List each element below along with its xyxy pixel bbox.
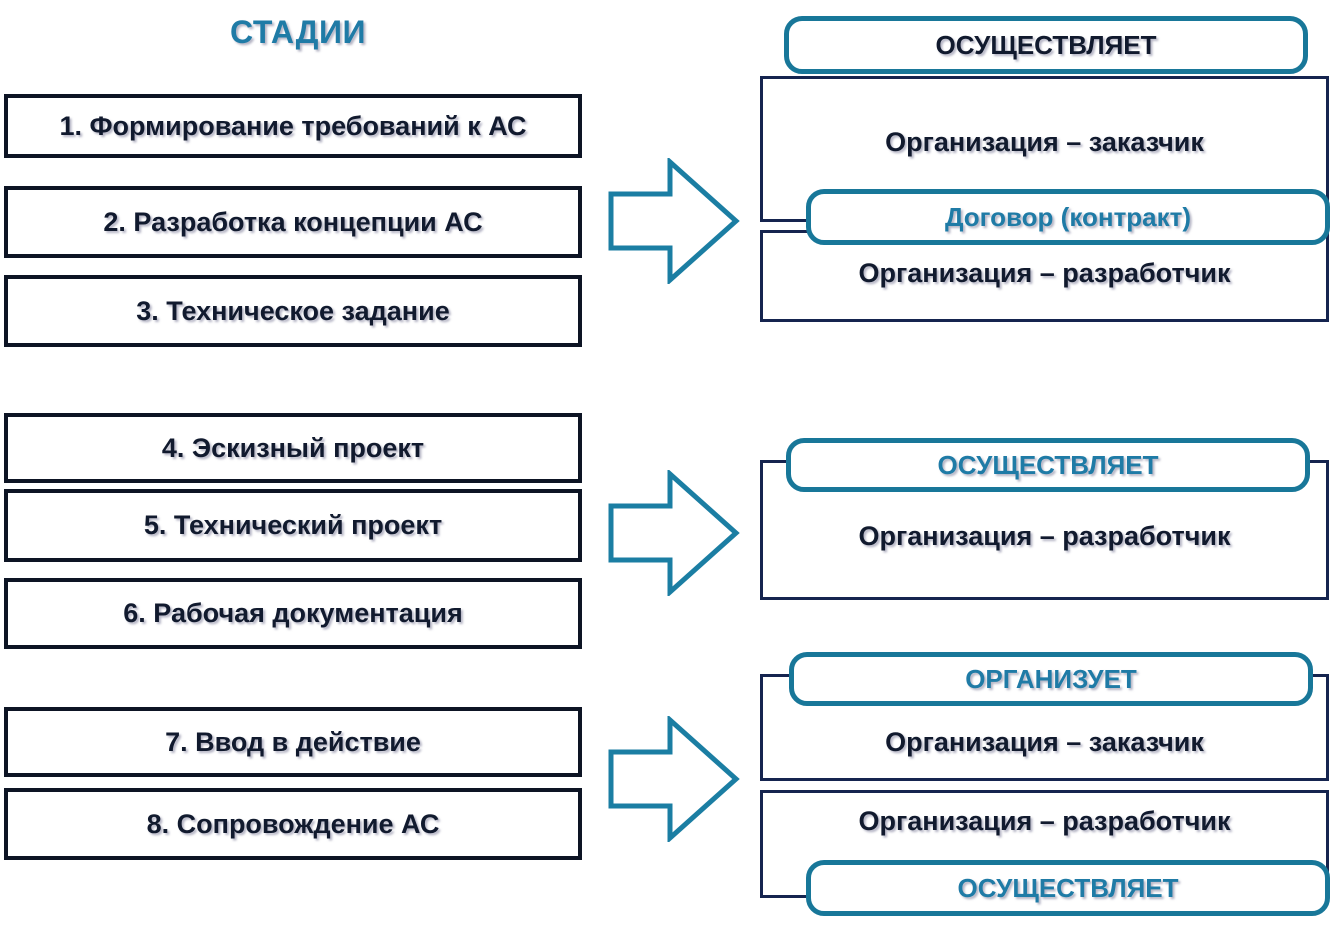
group-1-developer-label: Организация – разработчик <box>760 258 1329 289</box>
group-2-badge-performs[interactable]: ОСУЩЕСТВЛЯЕТ <box>786 438 1310 492</box>
stage-label-4: 4. Эскизный проект <box>162 433 424 464</box>
stage-box-4[interactable]: 4. Эскизный проект <box>4 413 582 483</box>
stage-box-5[interactable]: 5. Технический проект <box>4 489 582 562</box>
arrow-right-icon-3 <box>608 716 740 842</box>
stage-box-1[interactable]: 1. Формирование требований к АС <box>4 94 582 158</box>
arrow-right-icon-2 <box>608 470 740 596</box>
diagram-canvas: СТАДИИ 1. Формирование требований к АС 2… <box>0 0 1339 941</box>
group-1-badge-performs-label: ОСУЩЕСТВЛЯЕТ <box>936 30 1157 61</box>
stage-box-2[interactable]: 2. Разработка концепции АС <box>4 186 582 258</box>
stages-column-title: СТАДИИ <box>0 14 596 51</box>
group-3-badge-performs-label: ОСУЩЕСТВЛЯЕТ <box>958 873 1179 904</box>
group-1-badge-contract-label: Договор (контракт) <box>945 202 1191 233</box>
group-1-badge-contract[interactable]: Договор (контракт) <box>806 189 1330 245</box>
stage-label-1: 1. Формирование требований к АС <box>59 111 526 142</box>
group-1-badge-performs[interactable]: ОСУЩЕСТВЛЯЕТ <box>784 16 1308 74</box>
stage-label-3: 3. Техническое задание <box>136 296 449 327</box>
stage-label-5: 5. Технический проект <box>144 510 442 541</box>
stage-box-6[interactable]: 6. Рабочая документация <box>4 578 582 649</box>
stage-label-8: 8. Сопровождение АС <box>147 809 440 840</box>
group-3-badge-performs[interactable]: ОСУЩЕСТВЛЯЕТ <box>806 860 1330 916</box>
group-3-developer-label: Организация – разработчик <box>760 806 1329 837</box>
stage-label-7: 7. Ввод в действие <box>165 727 421 758</box>
stage-label-2: 2. Разработка концепции АС <box>103 207 482 238</box>
stage-box-3[interactable]: 3. Техническое задание <box>4 275 582 347</box>
group-1-customer-label: Организация – заказчик <box>760 127 1329 158</box>
group-3-badge-organizes-label: ОРГАНИЗУЕТ <box>965 664 1137 695</box>
stage-box-8[interactable]: 8. Сопровождение АС <box>4 788 582 860</box>
stage-box-7[interactable]: 7. Ввод в действие <box>4 707 582 777</box>
group-3-customer-label: Организация – заказчик <box>760 727 1329 758</box>
arrow-right-icon-1 <box>608 158 740 284</box>
group-3-badge-organizes[interactable]: ОРГАНИЗУЕТ <box>789 652 1313 706</box>
stage-label-6: 6. Рабочая документация <box>123 598 462 629</box>
group-2-badge-performs-label: ОСУЩЕСТВЛЯЕТ <box>938 450 1159 481</box>
group-2-developer-label: Организация – разработчик <box>760 521 1329 552</box>
